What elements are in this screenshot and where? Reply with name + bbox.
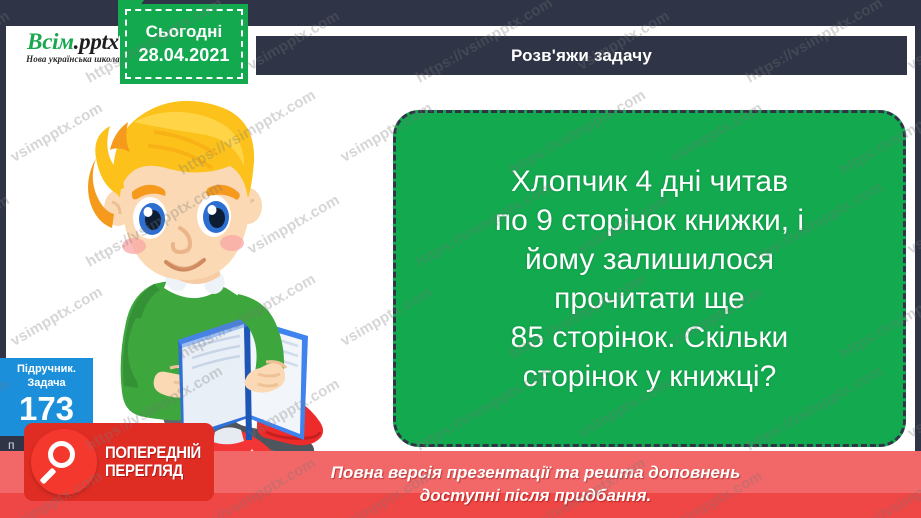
magnifier-handle [40, 468, 57, 485]
preview-watermark-label: ПОПЕРЕДНІЙ ПЕРЕГЛЯД [105, 444, 201, 480]
slide-title-bar: Розв'яжи задачу [256, 36, 907, 75]
brand-logo-ext: .pptx [74, 29, 119, 54]
date-badge-value: 28.04.2021 [138, 45, 229, 66]
date-badge: Сьогодні 28.04.2021 [120, 4, 248, 84]
task-question-text: Хлопчик 4 дні читав по 9 сторінок книжки… [495, 162, 804, 396]
preview-watermark-chip: ПОПЕРЕДНІЙ ПЕРЕГЛЯД [24, 423, 214, 501]
textbook-badge-label-2: Задача [0, 377, 93, 391]
date-badge-label: Сьогодні [146, 22, 223, 42]
brand-logo-name: Всім [27, 29, 74, 54]
magnifier-lens [48, 441, 75, 468]
textbook-task-number: 173 [0, 392, 93, 425]
magnifier-icon [31, 429, 97, 495]
textbook-badge-label-1: Підручник. [0, 363, 93, 377]
purchase-notice-text: Повна версія презентації та решта доповн… [331, 462, 741, 506]
brand-logo-subtitle: Нова українська школа [14, 55, 132, 64]
brand-logo: Всім.pptx Нова українська школа [14, 30, 132, 64]
task-question-box: Хлопчик 4 дні читав по 9 сторінок книжки… [393, 110, 906, 447]
page-title: Розв'яжи задачу [511, 46, 652, 66]
brand-logo-main: Всім.pptx [14, 30, 132, 53]
slide-root: Всім.pptx Нова українська школа Сьогодні… [0, 0, 921, 518]
